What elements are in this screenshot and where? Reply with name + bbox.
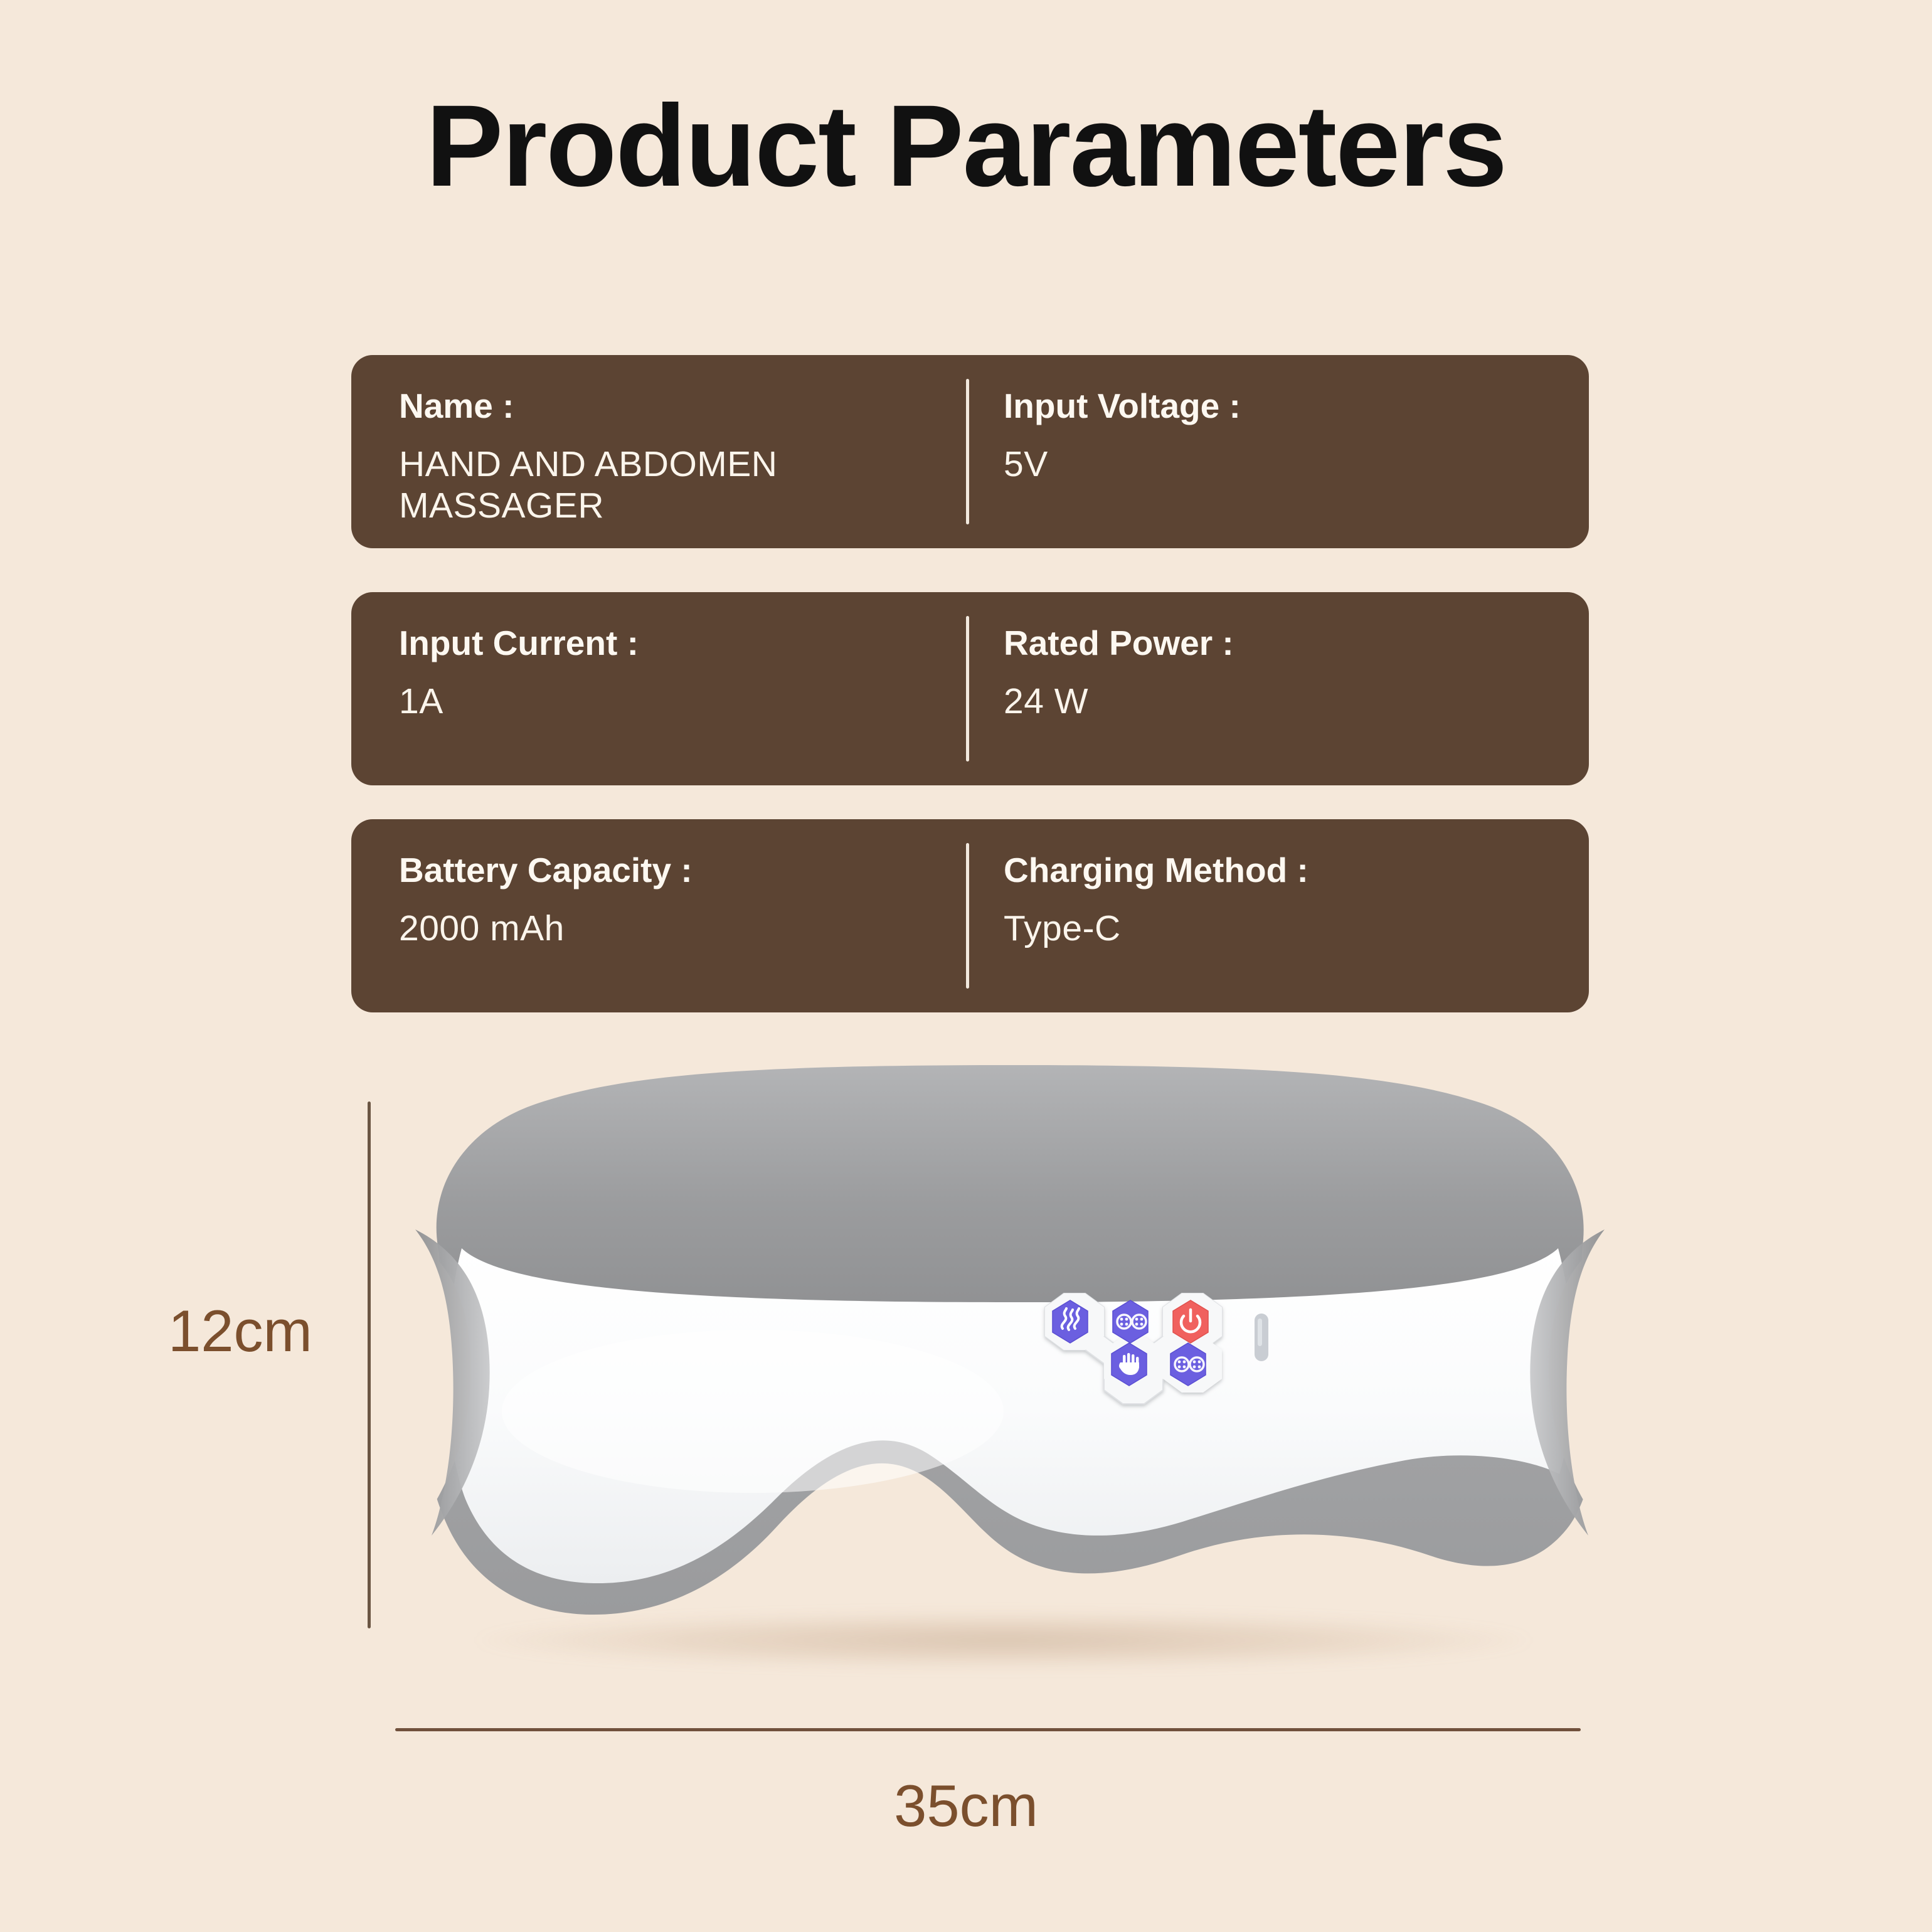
massager-front-highlight xyxy=(502,1330,1004,1493)
spec-label: Input Current : xyxy=(399,622,639,664)
spec-label: Charging Method : xyxy=(1004,849,1308,891)
spec-value: 1A xyxy=(399,681,443,723)
spec-card-divider xyxy=(966,379,969,524)
spec-cell-right: Input Voltage : 5V xyxy=(1004,355,1556,548)
massager-body xyxy=(401,1065,1618,1615)
spec-value: 2000 mAh xyxy=(399,908,565,950)
control-panel[interactable] xyxy=(1022,1280,1286,1418)
spec-label: Rated Power : xyxy=(1004,622,1234,664)
spec-cell-left: Name : HAND AND ABDOMEN MASSAGER xyxy=(399,355,957,548)
spec-value: Type-C xyxy=(1004,908,1121,950)
spec-cell-left: Battery Capacity : 2000 mAh xyxy=(399,819,957,1012)
spec-label: Battery Capacity : xyxy=(399,849,693,891)
spec-cell-right: Charging Method : Type-C xyxy=(1004,819,1556,1012)
spec-cell-left: Input Current : 1A xyxy=(399,592,957,785)
spec-value: 5V xyxy=(1004,444,1048,486)
spec-label: Input Voltage : xyxy=(1004,385,1241,427)
indicator-light-highlight xyxy=(1258,1319,1262,1346)
product-image xyxy=(0,1060,1932,1687)
height-dimension-line xyxy=(368,1101,371,1628)
massager-top-shell xyxy=(437,1065,1584,1319)
massager-illustration xyxy=(401,1060,1618,1662)
width-dimension-line xyxy=(395,1728,1581,1731)
spec-card: Name : HAND AND ABDOMEN MASSAGER Input V… xyxy=(351,355,1589,548)
page-title: Product Parameters xyxy=(0,74,1932,219)
spec-card: Battery Capacity : 2000 mAh Charging Met… xyxy=(351,819,1589,1012)
spec-cell-right: Rated Power : 24 W xyxy=(1004,592,1556,785)
spec-card: Input Current : 1A Rated Power : 24 W xyxy=(351,592,1589,785)
spec-value: HAND AND ABDOMEN MASSAGER xyxy=(399,444,777,526)
spec-value: 24 W xyxy=(1004,681,1088,723)
width-dimension-label: 35cm xyxy=(0,1772,1932,1840)
spec-card-divider xyxy=(966,616,969,762)
spec-card-divider xyxy=(966,843,969,989)
height-dimension-label: 12cm xyxy=(168,1297,312,1365)
product-parameters-page: Product Parameters Name : HAND AND ABDOM… xyxy=(0,0,1932,1932)
spec-label: Name : xyxy=(399,385,514,427)
